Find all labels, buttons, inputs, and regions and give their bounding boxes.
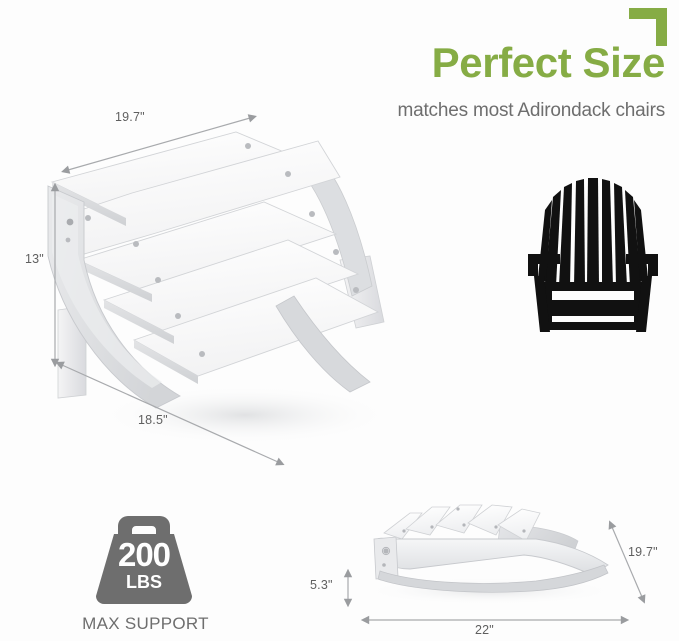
weight-value: 200: [88, 538, 200, 571]
weight-icon: 200 LBS: [88, 512, 200, 606]
dimension-label-folded-width: 22": [475, 623, 494, 637]
infographic-canvas: Perfect Size matches most Adirondack cha…: [0, 0, 679, 641]
dimension-label-folded-depth: 19.7": [628, 545, 658, 559]
weight-unit: LBS: [88, 573, 200, 591]
max-support-caption: MAX SUPPORT: [58, 614, 233, 634]
dimension-label-folded-height: 5.3": [310, 578, 333, 592]
